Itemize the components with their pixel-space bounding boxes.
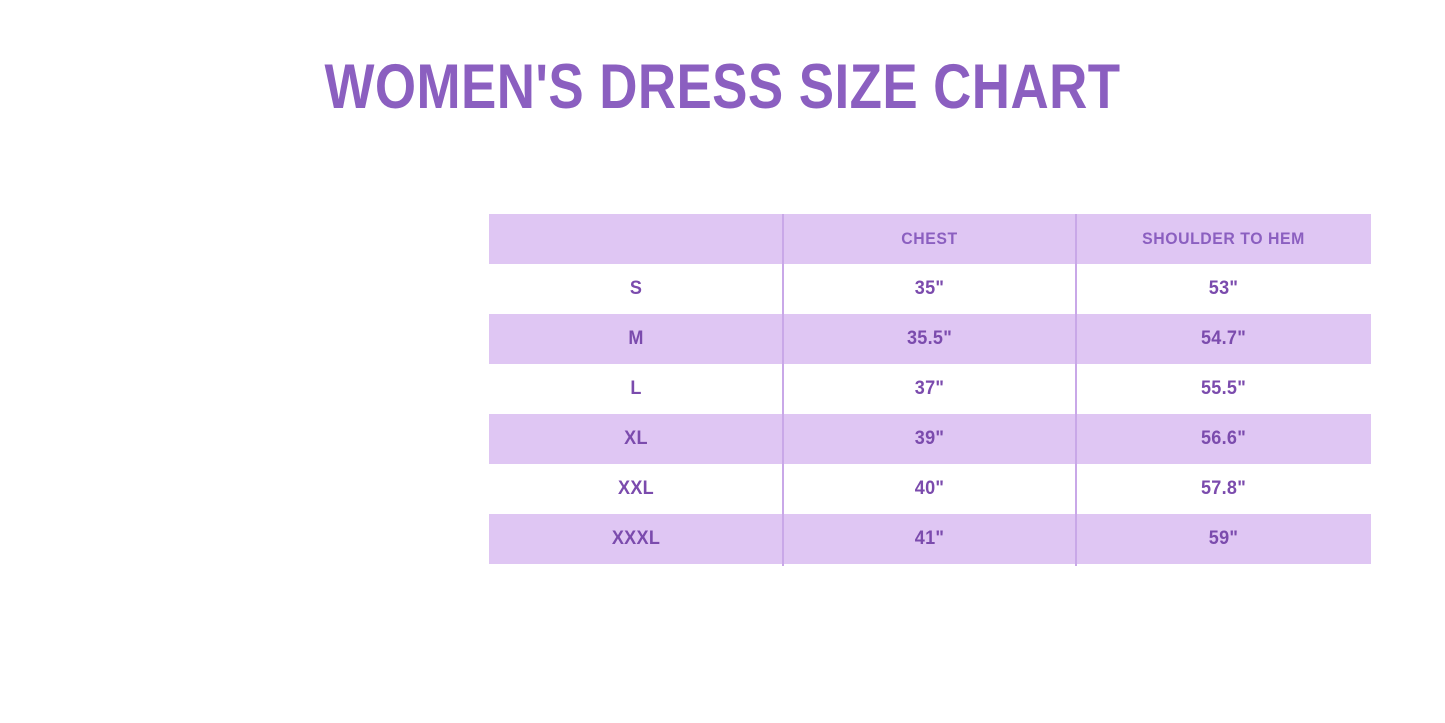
- cell-shoulder-to-hem: 57.8": [1083, 464, 1363, 514]
- table-body: S 35" 53" M 35.5" 54.7" L 37" 55.5" XL 3…: [489, 264, 1371, 564]
- cell-size: S: [496, 264, 775, 314]
- table-header: CHEST SHOULDER TO HEM: [489, 214, 1371, 264]
- table-row: XL 39" 56.6": [489, 414, 1371, 464]
- size-chart-page: WOMEN'S DRESS SIZE CHART CHEST SHOULDER …: [0, 0, 1445, 723]
- cell-size: L: [496, 364, 775, 414]
- table-row: M 35.5" 54.7": [489, 314, 1371, 364]
- size-chart-table: CHEST SHOULDER TO HEM S 35" 53" M 35.5" …: [489, 214, 1371, 564]
- cell-shoulder-to-hem: 53": [1083, 264, 1363, 314]
- table-header-row: CHEST SHOULDER TO HEM: [489, 214, 1371, 264]
- column-header-size: [499, 214, 772, 264]
- cell-chest: 37": [790, 364, 1068, 414]
- cell-shoulder-to-hem: 59": [1083, 514, 1363, 564]
- cell-shoulder-to-hem: 55.5": [1083, 364, 1363, 414]
- cell-size: XXXL: [496, 514, 775, 564]
- size-chart-table-container: CHEST SHOULDER TO HEM S 35" 53" M 35.5" …: [489, 214, 1371, 566]
- cell-size: M: [496, 314, 775, 364]
- table-row: XXL 40" 57.8": [489, 464, 1371, 514]
- page-title: WOMEN'S DRESS SIZE CHART: [116, 52, 1330, 122]
- cell-size: XL: [496, 414, 775, 464]
- cell-chest: 35.5": [790, 314, 1068, 364]
- table-row: L 37" 55.5": [489, 364, 1371, 414]
- table-row: S 35" 53": [489, 264, 1371, 314]
- table-row: XXXL 41" 59": [489, 514, 1371, 564]
- cell-chest: 39": [790, 414, 1068, 464]
- cell-chest: 35": [790, 264, 1068, 314]
- cell-chest: 40": [790, 464, 1068, 514]
- cell-shoulder-to-hem: 54.7": [1083, 314, 1363, 364]
- column-header-chest: CHEST: [793, 214, 1065, 264]
- cell-size: XXL: [496, 464, 775, 514]
- cell-chest: 41": [790, 514, 1068, 564]
- cell-shoulder-to-hem: 56.6": [1083, 414, 1363, 464]
- column-header-shoulder-to-hem: SHOULDER TO HEM: [1086, 214, 1360, 264]
